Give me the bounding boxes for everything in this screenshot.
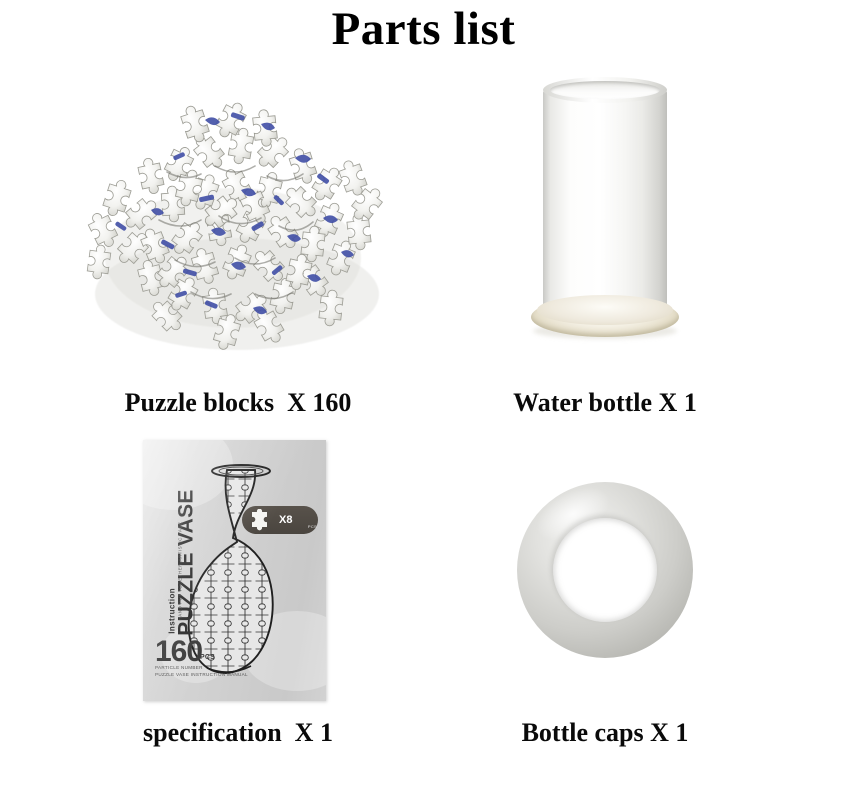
booklet-tagline: HAND PUT TOGETHER ARTISTIC VASE bbox=[178, 501, 183, 621]
bottle-base-ring-inner bbox=[537, 295, 673, 325]
booklet-badge-count: X8 bbox=[279, 515, 292, 526]
part-item-puzzle-blocks bbox=[55, 80, 415, 370]
part-label-specification: specification X 1 bbox=[38, 718, 438, 748]
part-item-specification: Instruction PUZZLE VASE HAND PUT TOGETHE… bbox=[55, 430, 415, 710]
puzzle-piece-icon bbox=[248, 509, 274, 531]
part-label-bottle-caps: Bottle caps X 1 bbox=[440, 718, 770, 748]
part-label-puzzle-blocks: Puzzle blocks X 160 bbox=[38, 388, 438, 418]
booklet-fine-print-line2: PUZZLE VASE INSTRUCTION MANUAL bbox=[155, 672, 248, 679]
part-item-bottle-caps bbox=[440, 430, 770, 710]
water-bottle-image bbox=[543, 75, 667, 333]
puzzle-blocks-image bbox=[55, 80, 415, 370]
bottle-rim-inner bbox=[550, 81, 660, 99]
part-item-water-bottle bbox=[440, 55, 770, 370]
booklet-piece-count-unit: PCS bbox=[200, 654, 215, 661]
cap-ring-hole bbox=[553, 518, 657, 622]
bottle-body bbox=[543, 89, 667, 325]
bottle-cap-ring-image bbox=[517, 482, 693, 658]
booklet-badge-sub: PCS bbox=[308, 524, 317, 529]
booklet-piece-count: 160 bbox=[155, 637, 202, 667]
page-title: Parts list bbox=[0, 2, 847, 56]
instruction-booklet-image: Instruction PUZZLE VASE HAND PUT TOGETHE… bbox=[143, 440, 326, 701]
booklet-piece-badge: X8 bbox=[242, 506, 318, 534]
booklet-fine-print: PARTICLE NUMBER PUZZLE VASE INSTRUCTION … bbox=[155, 665, 248, 679]
booklet-fine-print-line1: PARTICLE NUMBER bbox=[155, 665, 248, 672]
part-label-water-bottle: Water bottle X 1 bbox=[440, 388, 770, 418]
